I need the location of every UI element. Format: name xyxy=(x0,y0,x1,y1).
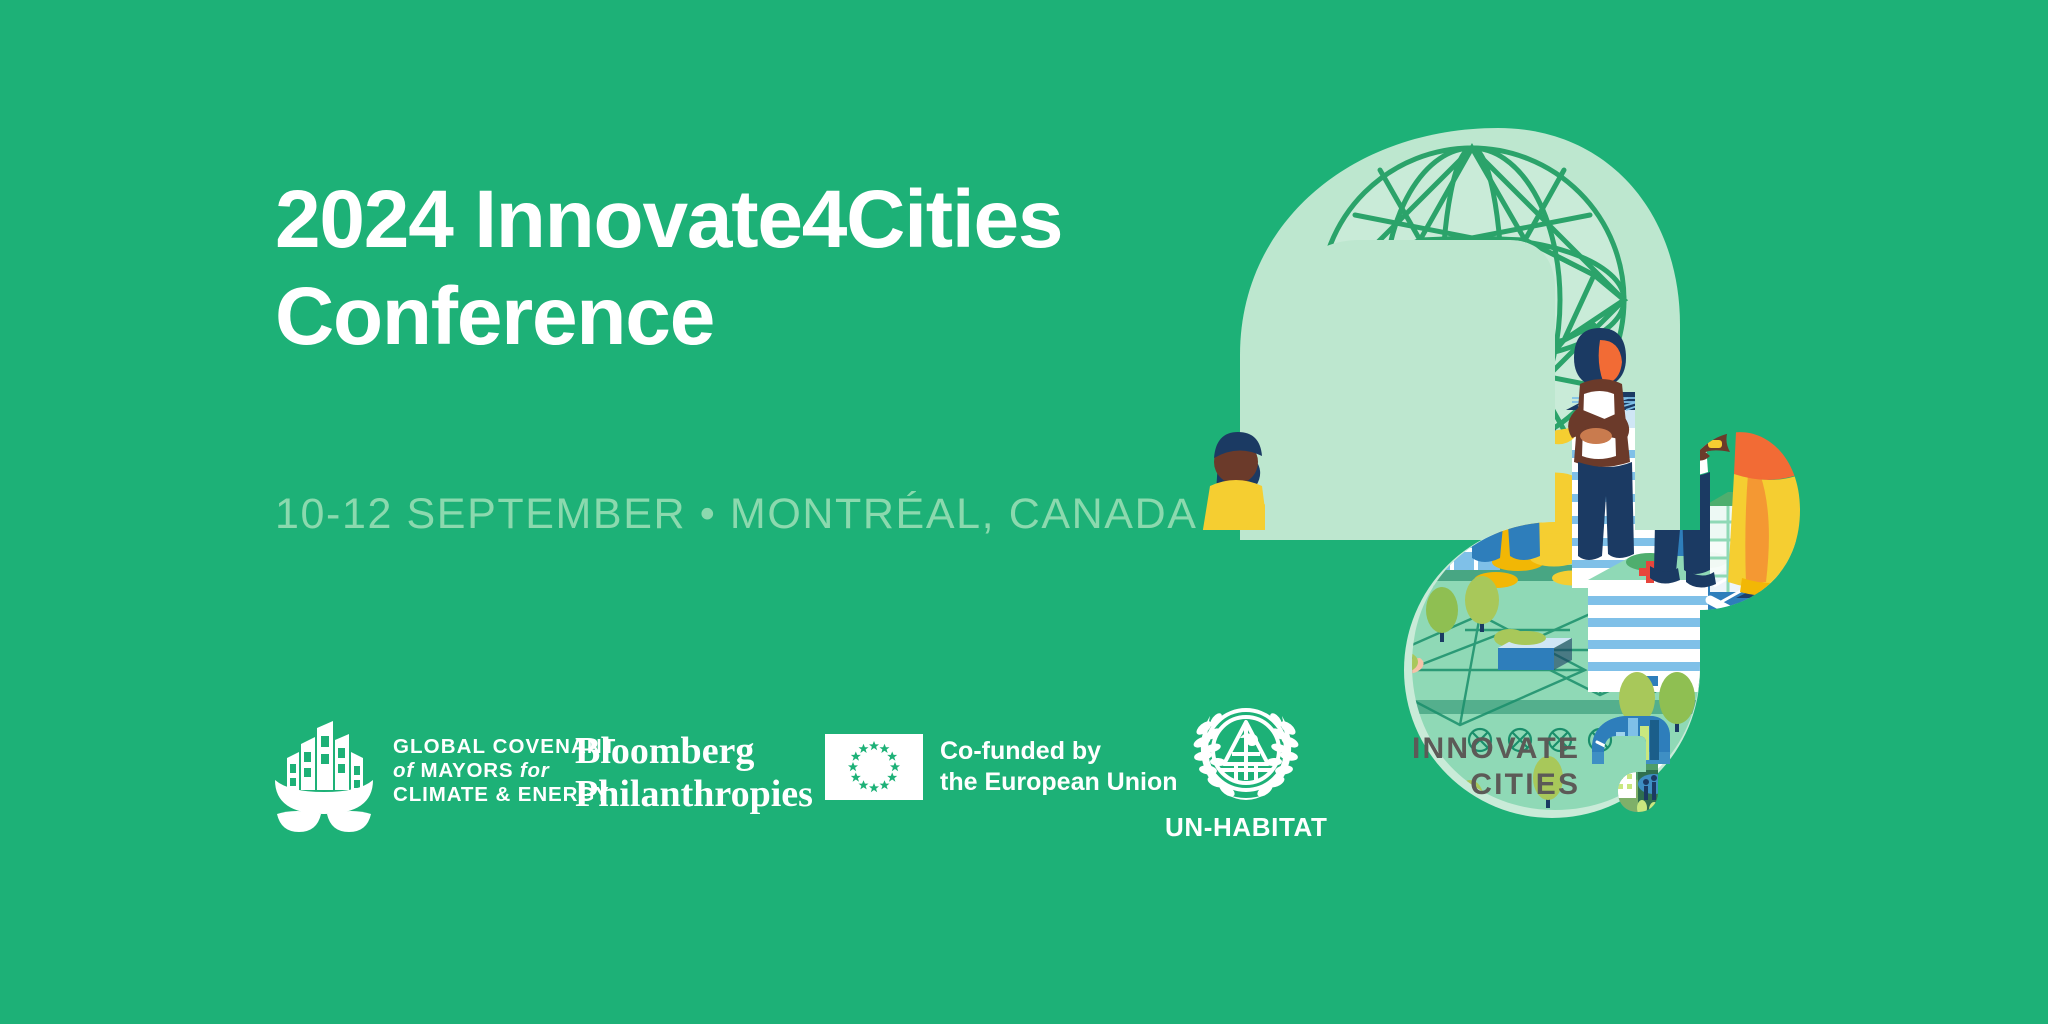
eu-funding-text: Co-funded by the European Union xyxy=(940,736,1178,799)
conference-banner: 2024 Innovate4Cities Conference 10-12 SE… xyxy=(0,0,2048,1024)
un-habitat-emblem-icon xyxy=(1180,698,1312,810)
logo-global-covenant-of-mayors: GLOBAL COVENANT of MAYORS for CLIMATE & … xyxy=(265,710,616,832)
gcom-for: for xyxy=(520,759,550,782)
logo-un-habitat: UN-HABITAT xyxy=(1165,698,1327,843)
logo-european-union: Co-funded by the European Union xyxy=(825,734,1178,800)
un-habitat-label: UN-HABITAT xyxy=(1165,812,1327,843)
eu-flag-icon xyxy=(825,734,923,800)
bloomberg-wordmark: Bloomberg Philanthropies xyxy=(575,730,813,815)
innovate4cities-wordmark: INNOVATE CITIES xyxy=(1412,731,1580,802)
gcom-of: of xyxy=(393,759,414,782)
page-title: 2024 Innovate4Cities Conference xyxy=(275,172,1215,366)
innovate4cities-numeral-4 xyxy=(1588,712,1672,821)
sponsor-logo-row: GLOBAL COVENANT of MAYORS for CLIMATE & … xyxy=(265,698,1385,848)
event-date-location: 10-12 SEPTEMBER • MONTRÉAL, CANADA xyxy=(275,490,1198,539)
gcom-mark-icon xyxy=(265,710,383,832)
gcom-mayors: MAYORS xyxy=(420,759,513,782)
innovate4cities-logo: INNOVATE CITIES xyxy=(1412,712,1672,821)
logo-bloomberg-philanthropies: Bloomberg Philanthropies xyxy=(575,730,813,815)
